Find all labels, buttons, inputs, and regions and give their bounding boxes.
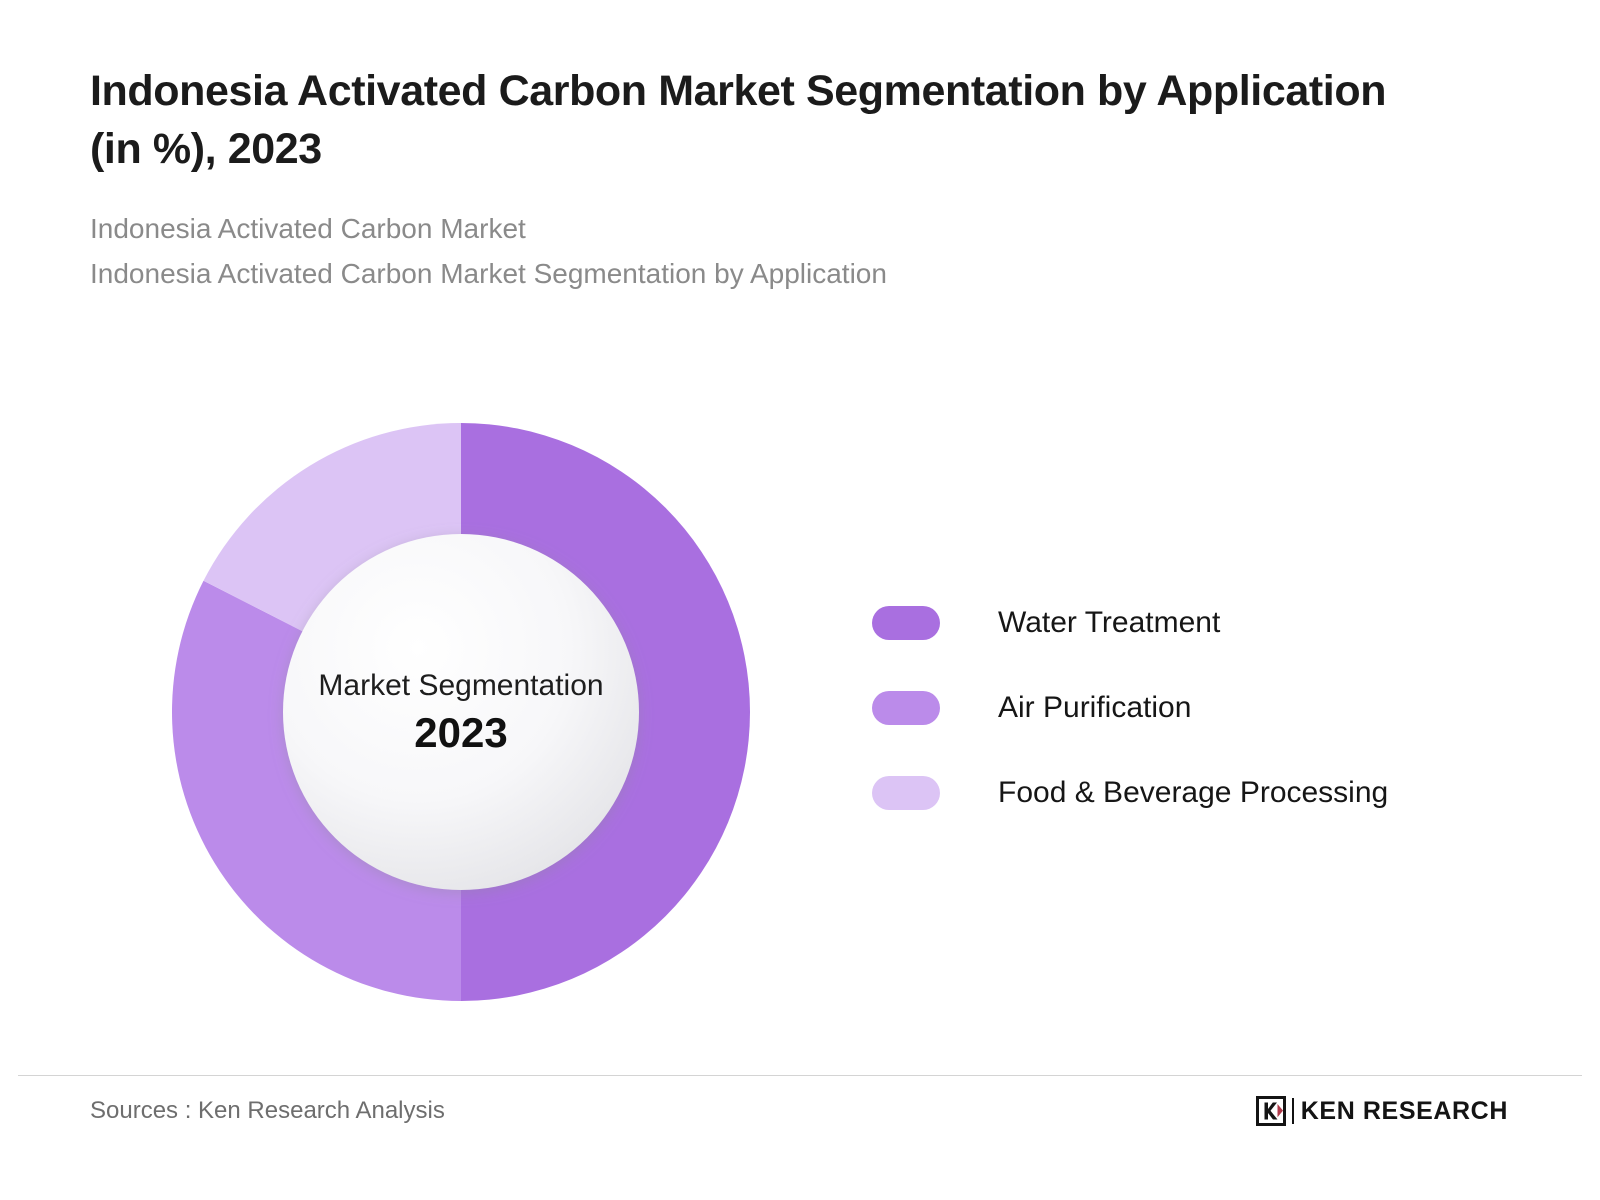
legend-label: Air Purification: [998, 691, 1191, 725]
slide-canvas: Indonesia Activated Carbon Market Segmen…: [0, 0, 1600, 1200]
chart-area: Market Segmentation 2023 Water Treatment…: [0, 400, 1600, 1040]
legend-swatch: [872, 776, 940, 810]
legend-item[interactable]: Air Purification: [872, 685, 1388, 731]
legend-label: Food & Beverage Processing: [998, 776, 1388, 810]
legend-item[interactable]: Water Treatment: [872, 600, 1388, 646]
ken-logo-k-icon: [1256, 1096, 1286, 1126]
logo-divider: [1292, 1098, 1294, 1124]
subtitle-block: Indonesia Activated Carbon Market Indone…: [90, 206, 1420, 297]
footer-divider: [18, 1075, 1582, 1076]
legend-label: Water Treatment: [998, 606, 1220, 640]
ken-research-logo: KEN RESEARCH: [1256, 1094, 1508, 1128]
header: Indonesia Activated Carbon Market Segmen…: [90, 62, 1420, 297]
legend-swatch: [872, 606, 940, 640]
page-title: Indonesia Activated Carbon Market Segmen…: [90, 62, 1420, 178]
legend-item[interactable]: Food & Beverage Processing: [872, 770, 1388, 816]
donut-chart: Market Segmentation 2023: [172, 423, 750, 1001]
logo-text: KEN RESEARCH: [1301, 1097, 1508, 1126]
legend-swatch: [872, 691, 940, 725]
donut-chart-svg: [172, 423, 750, 1001]
footer-sources: Sources : Ken Research Analysis: [90, 1097, 445, 1125]
subtitle-line-2: Indonesia Activated Carbon Market Segmen…: [90, 251, 1420, 296]
chart-legend: Water TreatmentAir PurificationFood & Be…: [872, 600, 1388, 816]
donut-hole: [283, 534, 639, 890]
subtitle-line-1: Indonesia Activated Carbon Market: [90, 206, 1420, 251]
